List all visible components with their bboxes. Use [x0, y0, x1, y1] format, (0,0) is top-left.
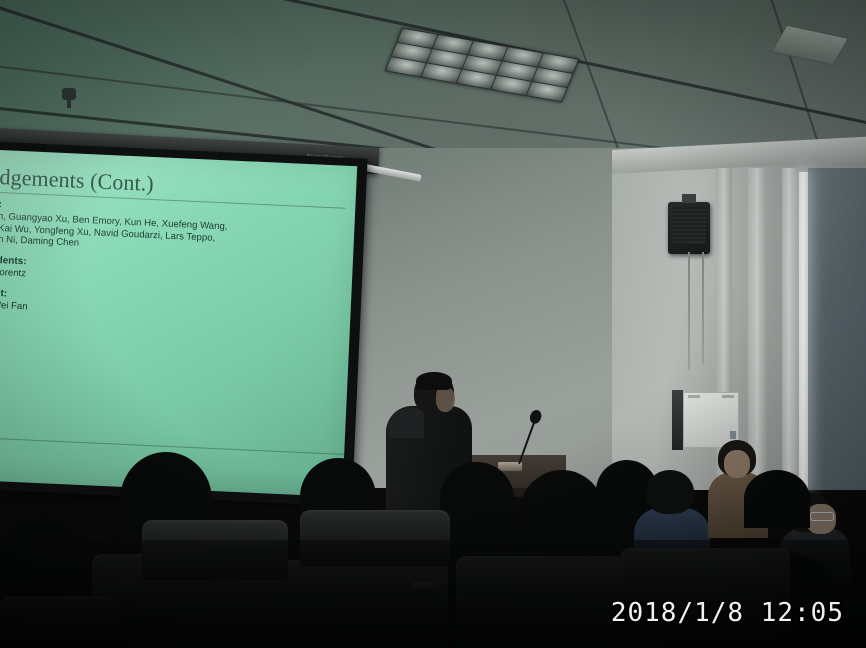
audience-member [556, 504, 628, 564]
projection-screen: Acknowledgements (Cont.) Graduate Studen… [0, 140, 368, 506]
photograph: ProjectScreen Acknowledgements (Cont.) G… [0, 0, 866, 648]
audience-head [646, 470, 694, 514]
cabinet-hinge [688, 395, 700, 398]
audience-face [724, 450, 750, 478]
speaker-cable [702, 252, 704, 364]
seat-number-tag [412, 582, 438, 587]
wall-speaker [668, 202, 710, 254]
speaker-cable [688, 252, 690, 370]
camera-timestamp: 2018/1/8 12:05 [611, 598, 844, 628]
window-light-strip [799, 172, 808, 490]
ceiling [0, 0, 866, 150]
presentation-slide: Acknowledgements (Cont.) Graduate Studen… [0, 148, 357, 497]
slide-content: Acknowledgements (Cont.) Graduate Studen… [0, 152, 351, 497]
speaker-bracket [682, 194, 696, 203]
auditorium-seat [456, 556, 624, 648]
smoke-detector [62, 88, 76, 100]
presenter-hair [416, 372, 452, 390]
cabinet-side-panel [672, 390, 683, 450]
audience-member [744, 470, 810, 528]
audience-member-blue-jacket [634, 470, 710, 560]
slide-body: Graduate Students: Jian Zheng, Yan Chen,… [0, 195, 349, 360]
window-curtain [808, 168, 866, 490]
auditorium-seat [300, 510, 450, 566]
slide-title: Acknowledgements (Cont.) [0, 160, 351, 206]
cabinet-latch[interactable] [730, 431, 736, 439]
eyeglasses-icon [810, 512, 834, 521]
auditorium-seat [142, 520, 288, 580]
auditorium-seat [0, 596, 120, 648]
auditorium-seat[interactable] [262, 560, 448, 648]
wall-pilaster [782, 168, 796, 488]
speaker-grille [672, 207, 706, 244]
presenter-shoulder [388, 408, 424, 438]
cabinet-hinge [722, 395, 734, 398]
